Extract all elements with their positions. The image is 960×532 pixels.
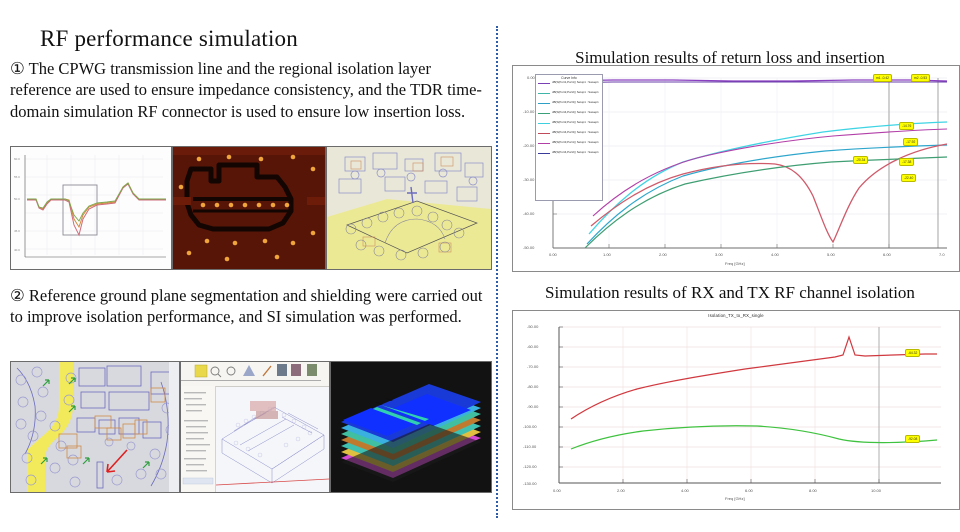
return-loss-chart[interactable]: 0.00 -10.00 -20.00 -30.00 -40.00 -50.00 … [512, 65, 960, 272]
tool-ribbon [181, 362, 329, 387]
svg-text:-10.00: -10.00 [523, 109, 535, 114]
svg-text:-120.00: -120.00 [523, 464, 537, 469]
page-title: RF performance simulation [40, 26, 298, 52]
svg-text:60.0: 60.0 [14, 157, 20, 161]
legend-swatch [538, 83, 550, 84]
legend-swatch [538, 153, 550, 154]
svg-text:-130.00: -130.00 [523, 481, 537, 486]
marker-callout[interactable]: -20.34 [853, 156, 868, 164]
svg-text:10.00: 10.00 [871, 488, 882, 493]
svg-text:-60.00: -60.00 [527, 344, 539, 349]
legend-swatch [538, 93, 550, 94]
legend-label: dB(S(Port2,Port2)) Setup1 : Sweep1 [552, 91, 599, 94]
legend-label: dB(S(Port4,Port2)) Setup1 : Sweep1 [552, 151, 599, 154]
legend-swatch [538, 123, 550, 124]
svg-text:-50.00: -50.00 [527, 324, 539, 329]
svg-text:Freq [GHz]: Freq [GHz] [725, 496, 745, 501]
isolation-svg: -50.00 -60.00 -70.00 -80.00 -90.00 -100.… [513, 311, 959, 509]
svg-text:3.00: 3.00 [715, 252, 724, 257]
marker-callout[interactable]: -14.76 [899, 122, 914, 130]
left-column: RF performance simulation ① The CPWG tra… [0, 0, 496, 532]
ground-segmentation-layout-image [10, 361, 180, 493]
paragraph-one: ① The CPWG transmission line and the reg… [10, 58, 490, 122]
svg-text:-80.00: -80.00 [527, 384, 539, 389]
svg-text:0.00: 0.00 [553, 488, 562, 493]
marker-callout[interactable]: -64.32 [905, 349, 920, 357]
legend-label: dB(S(Port2,Port1)) Setup1 : Sweep1 [552, 121, 599, 124]
svg-text:2.00: 2.00 [617, 488, 626, 493]
right-column: Simulation results of return loss and in… [500, 0, 960, 532]
svg-text:-110.00: -110.00 [523, 444, 537, 449]
tool-tree-panel[interactable] [181, 386, 216, 492]
svg-text:55.0: 55.0 [14, 175, 20, 179]
svg-text:1.00: 1.00 [603, 252, 612, 257]
svg-text:2.00: 2.00 [659, 252, 668, 257]
svg-text:45.0: 45.0 [14, 229, 20, 233]
marker-callout[interactable]: -92.08 [905, 435, 920, 443]
svg-text:6.00: 6.00 [883, 252, 892, 257]
copper-pour-layout-image [172, 146, 326, 270]
marker-callout[interactable]: -22.40 [901, 174, 916, 182]
pcb-layout-rf-region-image [326, 146, 492, 270]
svg-text:Freq [GHz]: Freq [GHz] [725, 261, 745, 266]
svg-text:6.00: 6.00 [745, 488, 754, 493]
isolation-plot-inner-title: Isolation_TX_to_RX_single [513, 313, 959, 318]
svg-text:50.0: 50.0 [14, 197, 20, 201]
marker-callout[interactable]: -17.92 [903, 138, 918, 146]
column-divider [496, 26, 498, 518]
legend-swatch [538, 133, 550, 134]
marker-callout[interactable]: -17.38 [899, 158, 914, 166]
return-loss-plot-area: 0.00 -10.00 -20.00 -30.00 -40.00 -50.00 … [513, 66, 959, 271]
svg-text:8.00: 8.00 [809, 488, 818, 493]
svg-text:-100.00: -100.00 [523, 424, 537, 429]
svg-text:4.00: 4.00 [771, 252, 780, 257]
svg-text:-40.00: -40.00 [523, 211, 535, 216]
marker-callout[interactable]: m2 -0.53 [911, 74, 930, 82]
legend-label: dB(S(Port4,Port4)) Setup1 : Sweep1 [552, 111, 599, 114]
svg-text:4.00: 4.00 [681, 488, 690, 493]
svg-text:5.00: 5.00 [827, 252, 836, 257]
svg-text:-70.00: -70.00 [527, 364, 539, 369]
svg-text:0.00: 0.00 [549, 252, 558, 257]
pcb-layer-stackup-3d-image [330, 361, 492, 493]
svg-text:-30.00: -30.00 [523, 177, 535, 182]
svg-text:40.0: 40.0 [14, 248, 20, 252]
isolation-chart[interactable]: Isolation_TX_to_RX_single [512, 310, 960, 510]
marker-callout[interactable]: m1 -0.42 [873, 74, 892, 82]
legend-item: dB(S(Port4,Port2)) Setup1 : Sweep1 [536, 151, 602, 161]
legend-rows: dB(S(Port1,Port1)) Setup1 : Sweep1 dB(S(… [536, 80, 602, 161]
svg-text:-90.00: -90.00 [527, 404, 539, 409]
slide-root: RF performance simulation ① The CPWG tra… [0, 0, 960, 532]
svg-text:7.0: 7.0 [939, 252, 945, 257]
tdr-impedance-plot-image: 60.055.0 50.045.0 40.0 [10, 146, 172, 270]
legend-label: dB(S(Port4,Port3)) Setup1 : Sweep1 [552, 131, 599, 134]
isolation-chart-title: Simulation results of RX and TX RF chann… [500, 283, 960, 303]
legend-swatch [538, 113, 550, 114]
return-loss-legend: Curve Info dB(S(Port1,Port1)) Setup1 : S… [535, 74, 603, 201]
legend-label: dB(S(Port3,Port1)) Setup1 : Sweep1 [552, 141, 599, 144]
tool-3d-canvas[interactable] [216, 387, 329, 492]
si-simulation-tool-image [180, 361, 330, 493]
paragraph-two: ② Reference ground plane segmentation an… [10, 285, 490, 328]
legend-label: dB(S(Port3,Port3)) Setup1 : Sweep1 [552, 101, 599, 104]
legend-label: dB(S(Port1,Port1)) Setup1 : Sweep1 [552, 81, 599, 84]
legend-swatch [538, 103, 550, 104]
svg-text:-50.00: -50.00 [523, 245, 535, 250]
isolation-plot-area: Isolation_TX_to_RX_single [513, 311, 959, 509]
svg-text:-20.00: -20.00 [523, 143, 535, 148]
legend-swatch [538, 143, 550, 144]
